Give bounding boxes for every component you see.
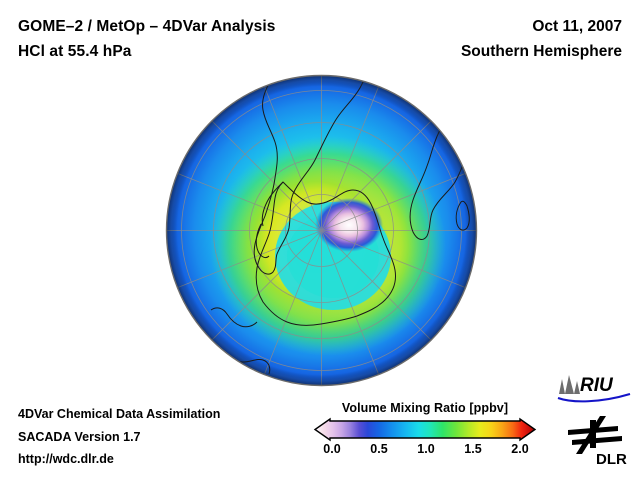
- colorbar-tick-labels: 0.0 0.5 1.0 1.5 2.0: [314, 442, 536, 460]
- colorbar-title: Volume Mixing Ratio [ppbv]: [314, 401, 536, 415]
- header-meta-block: Oct 11, 2007 Southern Hemisphere: [461, 14, 622, 64]
- footer-line-assimilation: 4DVar Chemical Data Assimilation: [18, 403, 220, 426]
- page-subtitle: HCl at 55.4 hPa: [18, 39, 276, 64]
- header-title-block: GOME–2 / MetOp – 4DVar Analysis HCl at 5…: [18, 14, 276, 64]
- dlr-mark-icon: [568, 416, 622, 454]
- colorbar-tick-3: 1.5: [464, 442, 481, 456]
- colorbar-tick-0: 0.0: [323, 442, 340, 456]
- riu-logo: RIU: [556, 372, 632, 404]
- colorbar-body: [315, 419, 535, 440]
- riu-spires-icon: [559, 375, 580, 394]
- footer-line-url[interactable]: http://wdc.dlr.de: [18, 448, 220, 471]
- colorbar-tick-4: 2.0: [511, 442, 528, 456]
- globe-map: [165, 74, 478, 387]
- dlr-logo: DLR: [566, 414, 632, 468]
- footer-credits: 4DVar Chemical Data Assimilation SACADA …: [18, 403, 220, 471]
- hemisphere-label: Southern Hemisphere: [461, 39, 622, 64]
- colorbar-tick-2: 1.0: [417, 442, 434, 456]
- riu-wordmark: RIU: [580, 375, 614, 396]
- page-title: GOME–2 / MetOp – 4DVar Analysis: [18, 14, 276, 39]
- colorbar: [314, 419, 536, 441]
- limb-shading: [167, 76, 477, 386]
- footer-line-version: SACADA Version 1.7: [18, 426, 220, 449]
- globe-disc: [166, 75, 481, 386]
- analysis-date: Oct 11, 2007: [461, 14, 622, 39]
- dlr-wordmark: DLR: [596, 451, 627, 468]
- orthographic-projection: [165, 74, 478, 387]
- colorbar-legend: Volume Mixing Ratio [ppbv]: [314, 401, 536, 460]
- colorbar-tick-1: 0.5: [370, 442, 387, 456]
